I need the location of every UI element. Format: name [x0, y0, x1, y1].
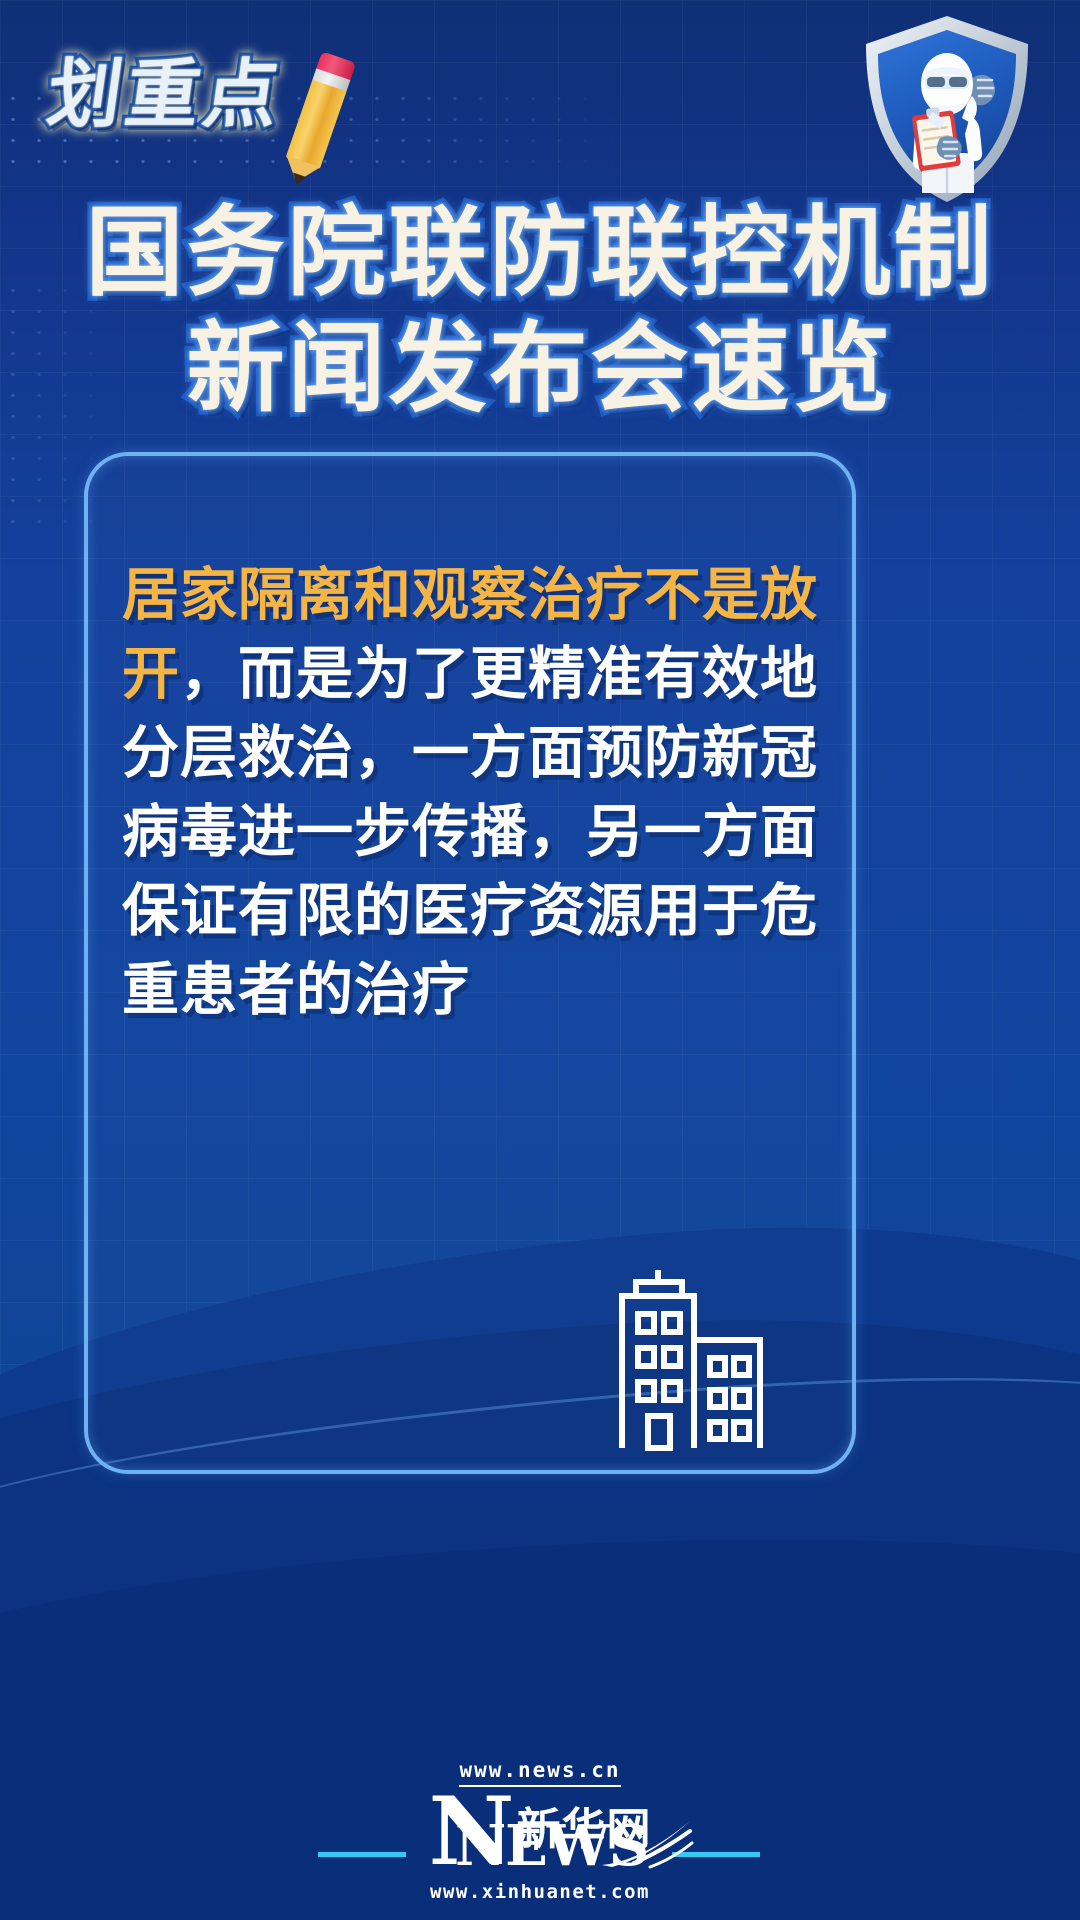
- content-rest: ，而是为了更精准有效地分层救治，一方面预防新冠病毒进一步传播，另一方面保证有限的…: [122, 641, 818, 1023]
- buildings-icon: [600, 1252, 800, 1452]
- shield-medical-worker-icon: [852, 8, 1042, 208]
- xinhua-logo: www.news.cn N 新华网 NEWS www.xinhuanet.com: [390, 1758, 690, 1903]
- key-points-label: 划重点: [43, 58, 287, 132]
- swoosh-icon: [598, 1817, 694, 1869]
- content-body-text: 居家隔离和观察治疗不是放开，而是为了更精准有效地分层救治，一方面预防新冠病毒进一…: [122, 556, 832, 1030]
- key-points-badge: 划重点: [48, 58, 350, 184]
- footer-logo-block: www.news.cn N 新华网 NEWS www.xinhuanet.com: [0, 1758, 1080, 1903]
- page-title-line-1: 国务院联防联控机制: [0, 196, 1080, 312]
- page-title-line-2: 新闻发布会速览: [0, 312, 1080, 428]
- xinhua-logo-mark: N 新华网 NEWS: [390, 1791, 690, 1875]
- page-title: 国务院联防联控机制 新闻发布会速览: [0, 196, 1080, 427]
- poster-root: 划重点: [0, 0, 1080, 1920]
